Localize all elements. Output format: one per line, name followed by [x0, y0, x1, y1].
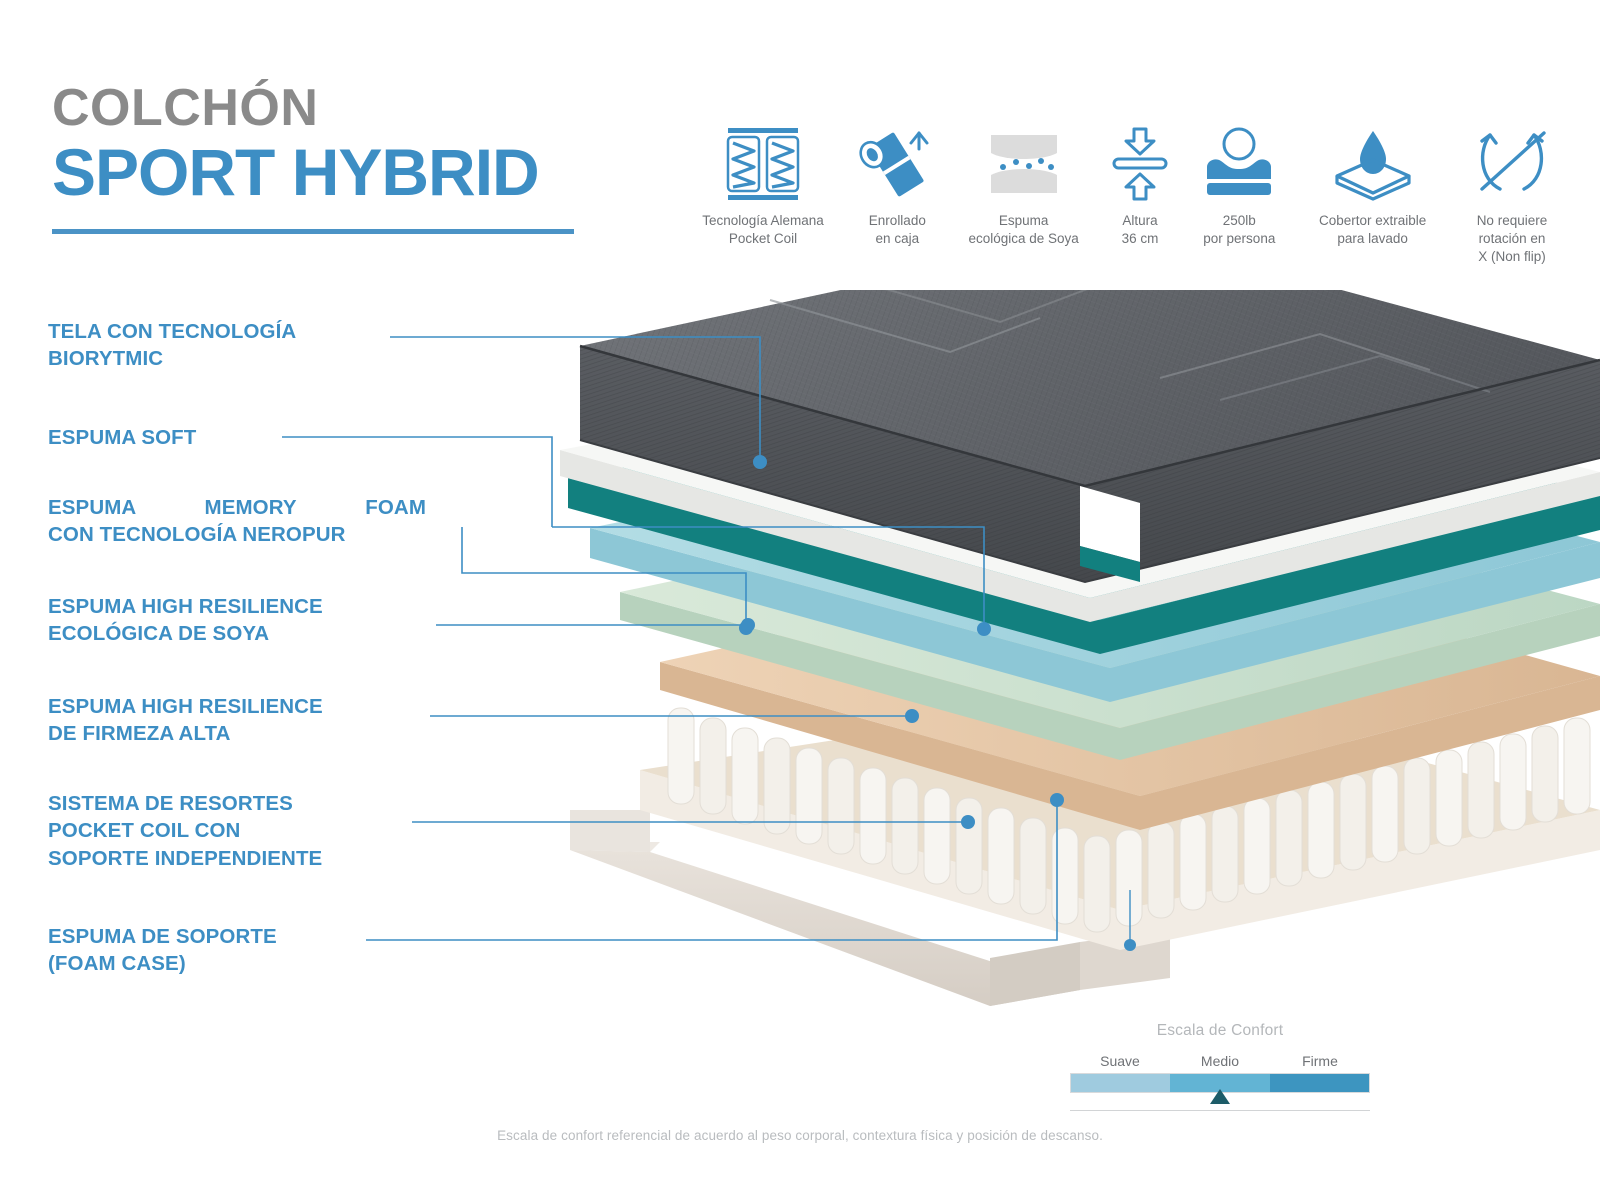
feature-weight-support: 250lb por persona — [1189, 125, 1289, 248]
pocket-coil-icon — [719, 125, 807, 203]
comfort-label-medio: Medio — [1170, 1053, 1270, 1069]
comfort-scale: Escala de Confort Suave Medio Firme — [1070, 1022, 1370, 1111]
comfort-scale-labels: Suave Medio Firme — [1070, 1053, 1370, 1069]
product-category: COLCHÓN — [52, 82, 652, 134]
layer-label-line2: CON TECNOLOGÍA NEROPUR — [48, 521, 426, 548]
feature-caption-line2: en caja — [876, 231, 920, 246]
height-arrows-icon — [1109, 125, 1171, 203]
layer-label-line1: ESPUMA HIGH RESILIENCE — [48, 595, 323, 618]
layer-label-pocket-coil-system: SISTEMA DE RESORTES POCKET COIL CON SOPO… — [48, 790, 428, 872]
comfort-segment-suave — [1071, 1074, 1170, 1092]
layer-label-line2: BIORYTMIC — [48, 347, 163, 370]
feature-caption-line1: Cobertor extraible — [1319, 213, 1426, 228]
comfort-marker-arrow — [1210, 1089, 1230, 1104]
comfort-marker-row — [1070, 1093, 1370, 1109]
feature-caption-line2: 36 cm — [1122, 231, 1159, 246]
layer-label-memory-foam: ESPUMA MEMORY FOAM CON TECNOLOGÍA NEROPU… — [48, 494, 426, 549]
feature-washable-cover: Cobertor extraible para lavado — [1303, 125, 1443, 248]
comfort-label-suave: Suave — [1070, 1053, 1170, 1069]
layer-label-line2: ECOLÓGICA DE SOYA — [48, 622, 269, 645]
feature-height: Altura 36 cm — [1104, 125, 1176, 248]
feature-caption-line1: Altura — [1122, 213, 1157, 228]
feature-caption-line3: X (Non flip) — [1478, 249, 1546, 264]
feature-caption-line2: para lavado — [1337, 231, 1408, 246]
feature-soy-foam: Espuma ecológica de Soya — [957, 125, 1091, 248]
feature-caption-line2: ecológica de Soya — [968, 231, 1078, 246]
layer-label-line2: (FOAM CASE) — [48, 952, 186, 975]
feature-caption-line1: Enrollado — [869, 213, 926, 228]
layer-label-line1: SISTEMA DE RESORTES — [48, 792, 293, 815]
layer-label-line2: DE FIRMEZA ALTA — [48, 722, 231, 745]
product-name: SPORT HYBRID — [52, 138, 652, 207]
feature-icon-row: Tecnología Alemana Pocket Coil Enrollado… — [688, 125, 1568, 265]
feature-caption: Cobertor extraible para lavado — [1319, 212, 1426, 248]
layer-label-firmeza-alta-hr: ESPUMA HIGH RESILIENCE DE FIRMEZA ALTA — [48, 693, 428, 748]
feature-caption: Tecnología Alemana Pocket Coil — [702, 212, 824, 248]
feature-caption-line1: Tecnología Alemana — [702, 213, 824, 228]
feature-caption: Altura 36 cm — [1122, 212, 1159, 248]
feature-caption-line1: No requiere — [1477, 213, 1548, 228]
feature-caption: 250lb por persona — [1203, 212, 1275, 248]
feature-caption: Enrollado en caja — [869, 212, 926, 248]
comfort-scale-footnote: Escala de confort referencial de acuerdo… — [0, 1128, 1600, 1143]
comfort-scale-title: Escala de Confort — [1070, 1022, 1370, 1040]
rolled-in-box-icon — [859, 125, 935, 203]
title-underline-rule — [52, 229, 574, 234]
layer-label-line1: ESPUMA DE SOPORTE — [48, 925, 277, 948]
layer-label-soya-hr: ESPUMA HIGH RESILIENCE ECOLÓGICA DE SOYA — [48, 593, 428, 648]
feature-caption-line1: Espuma — [999, 213, 1049, 228]
layer-label-line1: ESPUMA HIGH RESILIENCE — [48, 695, 323, 718]
soy-foam-icon — [981, 125, 1067, 203]
layer-label-line1: TELA CON TECNOLOGÍA — [48, 320, 296, 343]
feature-caption-line2: Pocket Coil — [729, 231, 797, 246]
feature-caption-line2: por persona — [1203, 231, 1275, 246]
feature-pocket-coil: Tecnología Alemana Pocket Coil — [688, 125, 838, 248]
layer-label-line3: SOPORTE INDEPENDIENTE — [48, 847, 322, 870]
feature-caption-line2: rotación en — [1479, 231, 1546, 246]
layer-label-line1: ESPUMA MEMORY FOAM — [48, 496, 426, 519]
layer-label-line1: ESPUMA SOFT — [48, 426, 196, 449]
feature-caption: No requiere rotación en X (Non flip) — [1477, 212, 1548, 265]
layer-label-espuma-soft: ESPUMA SOFT — [48, 424, 348, 451]
feature-caption: Espuma ecológica de Soya — [968, 212, 1078, 248]
no-flip-icon — [1474, 125, 1550, 203]
weight-support-icon — [1199, 125, 1279, 203]
feature-no-flip: No requiere rotación en X (Non flip) — [1456, 125, 1568, 265]
layer-label-tela-biorytmic: TELA CON TECNOLOGÍA BIORYTMIC — [48, 318, 368, 373]
comfort-segment-firme — [1270, 1074, 1369, 1092]
layer-label-line2: POCKET COIL CON — [48, 819, 240, 842]
mattress-exploded-diagram — [520, 290, 1600, 1010]
washable-cover-icon — [1330, 125, 1416, 203]
layer-label-foam-case: ESPUMA DE SOPORTE (FOAM CASE) — [48, 923, 428, 978]
feature-rolled-in-box: Enrollado en caja — [851, 125, 943, 248]
header-title-block: COLCHÓN SPORT HYBRID — [52, 82, 652, 234]
comfort-label-firme: Firme — [1270, 1053, 1370, 1069]
feature-caption-line1: 250lb — [1223, 213, 1256, 228]
comfort-scale-underline — [1070, 1110, 1370, 1111]
